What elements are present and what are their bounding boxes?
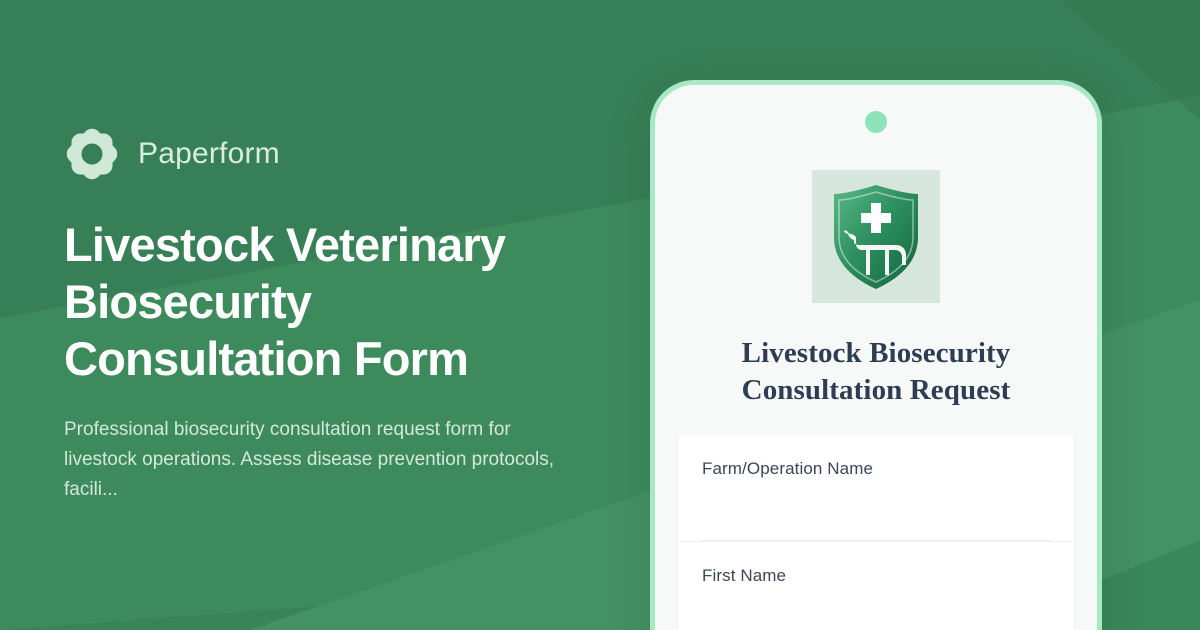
field-label: First Name bbox=[702, 566, 1050, 586]
form-title: Livestock Biosecurity Consultation Reque… bbox=[691, 335, 1061, 409]
form-field-first-name[interactable]: First Name bbox=[678, 542, 1074, 630]
phone-mockup: Livestock Biosecurity Consultation Reque… bbox=[650, 80, 1102, 630]
brand-lockup: Paperform bbox=[64, 126, 624, 182]
page-description: Professional biosecurity consultation re… bbox=[64, 415, 579, 505]
phone-screen: Livestock Biosecurity Consultation Reque… bbox=[655, 85, 1097, 630]
shield-cow-biosecurity-icon bbox=[826, 181, 926, 293]
form-field-farm-operation-name[interactable]: Farm/Operation Name bbox=[678, 435, 1074, 542]
camera-dot-icon bbox=[865, 111, 887, 133]
form-hero-image bbox=[812, 170, 940, 303]
first-name-input[interactable] bbox=[702, 600, 1050, 630]
form-card: Farm/Operation Name First Name bbox=[678, 435, 1074, 630]
page-title: Livestock Veterinary Biosecurity Consult… bbox=[64, 216, 584, 387]
brand-name: Paperform bbox=[138, 137, 280, 171]
hero-content: Paperform Livestock Veterinary Biosecuri… bbox=[64, 0, 624, 630]
farm-operation-name-input[interactable] bbox=[702, 493, 1050, 541]
paperform-logo-icon bbox=[64, 126, 120, 182]
field-label: Farm/Operation Name bbox=[702, 459, 1050, 479]
